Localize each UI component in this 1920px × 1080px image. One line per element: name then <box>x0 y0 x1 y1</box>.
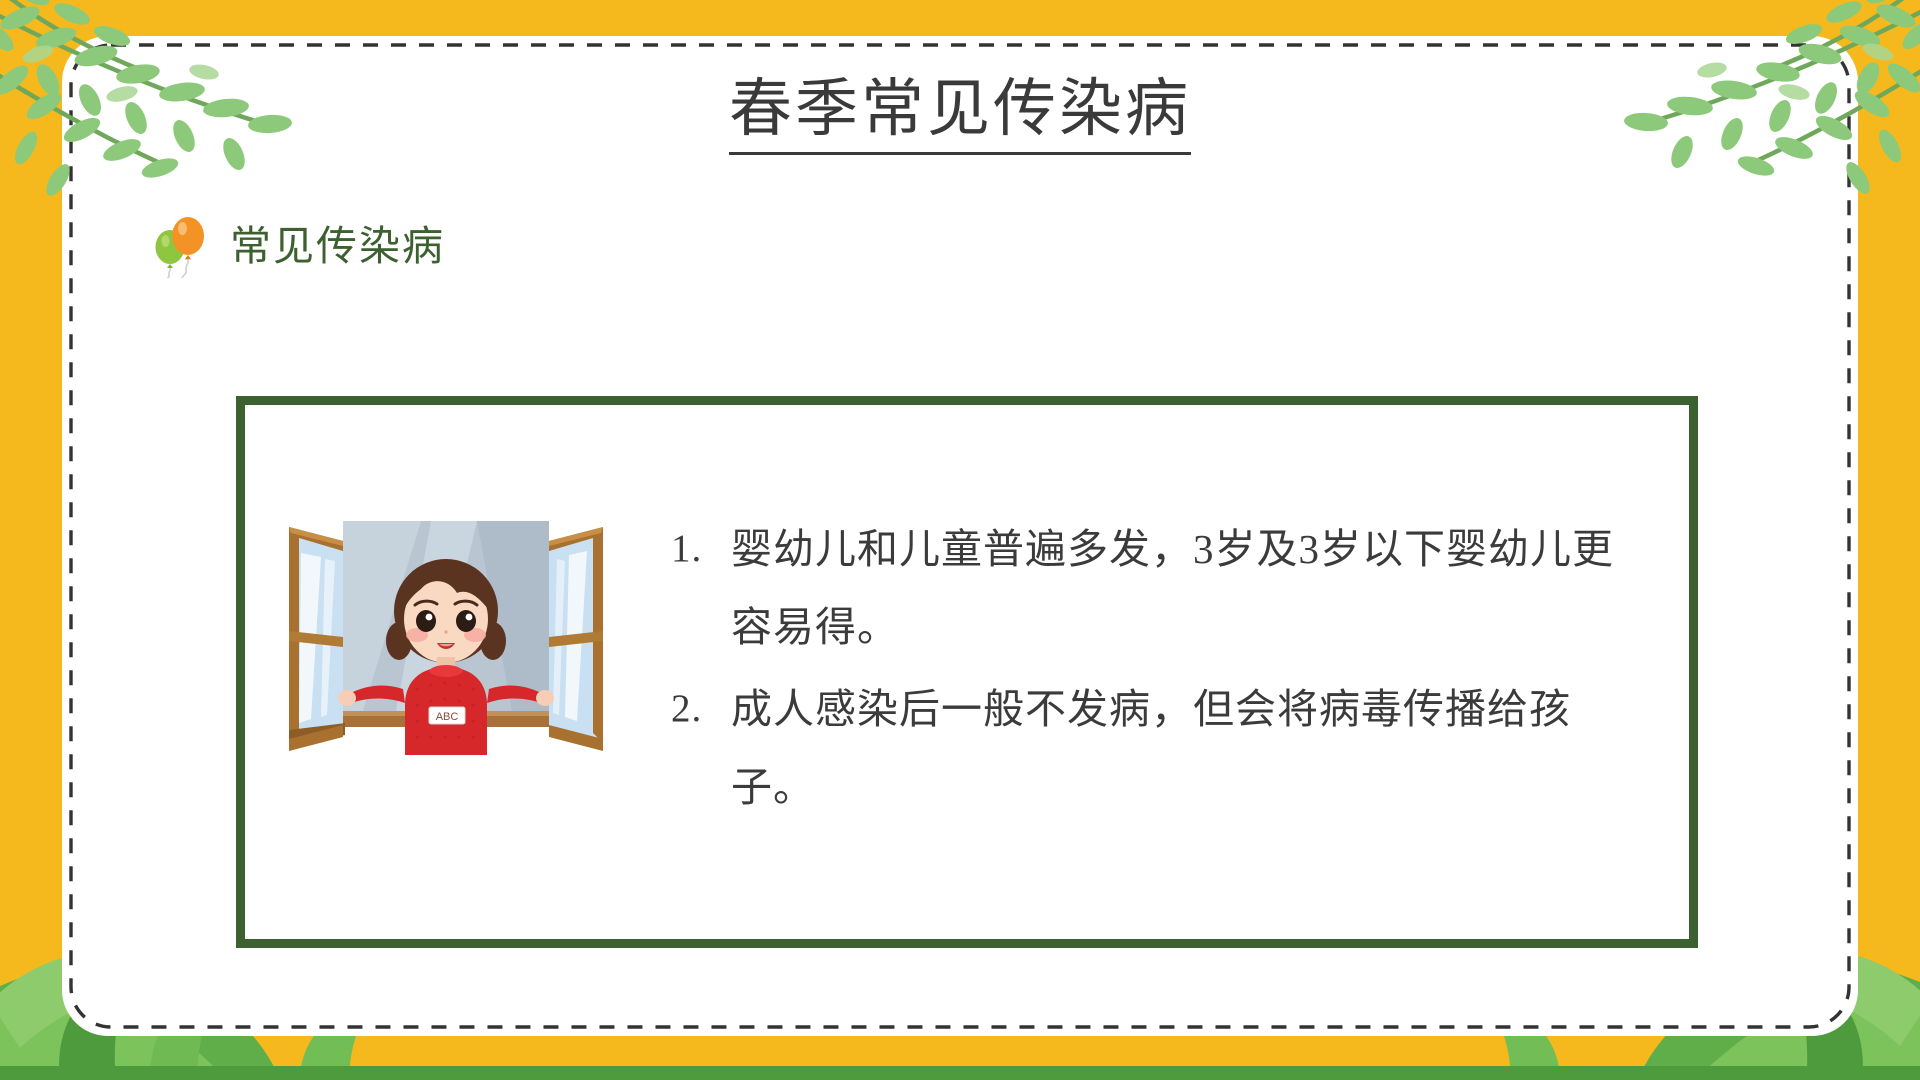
page-title: 春季常见传染病 <box>729 74 1191 155</box>
page-title-container: 春季常见传染病 <box>0 74 1920 155</box>
section-heading: 常见传染病 <box>150 206 445 278</box>
points-list: 婴幼儿和儿童普遍多发，3岁及3岁以下婴幼儿更容易得。 成人感染后一般不发病，但会… <box>665 510 1629 826</box>
slide-root: 春季常见传染病 常见传染病 <box>0 0 1920 1080</box>
balloons-icon <box>150 206 212 278</box>
section-heading-label: 常见传染病 <box>230 212 445 272</box>
window-right-panel <box>549 527 603 751</box>
content-box: ABC 婴幼儿和儿童普遍多发，3岁及3岁以下婴幼儿更容易得。 成人感染后一般不发… <box>236 396 1698 948</box>
points-list-container: 婴幼儿和儿童普遍多发，3岁及3岁以下婴幼儿更容易得。 成人感染后一般不发病，但会… <box>665 510 1689 830</box>
girl-at-open-window-illustration: ABC <box>281 493 611 763</box>
list-item: 婴幼儿和儿童普遍多发，3岁及3岁以下婴幼儿更容易得。 <box>665 510 1629 666</box>
illustration-container: ABC <box>245 405 665 939</box>
sweater-abc-label: ABC <box>436 711 459 723</box>
list-item: 成人感染后一般不发病，但会将病毒传播给孩子。 <box>665 670 1629 826</box>
window-left-panel <box>289 527 345 751</box>
